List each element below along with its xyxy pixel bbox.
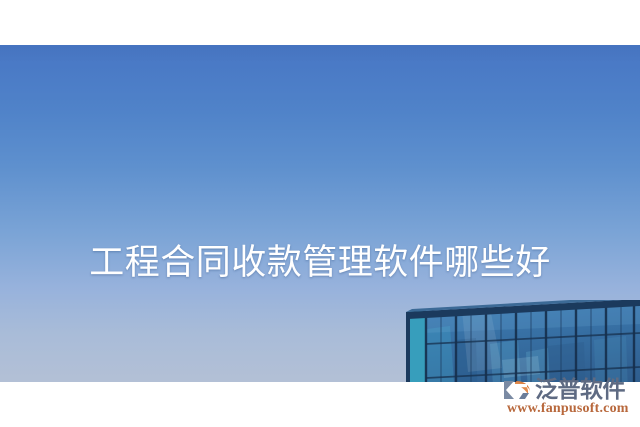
brand-logo-row: 泛普软件 xyxy=(503,378,625,402)
screenshot-canvas: 工程合同收款管理软件哪些好 泛普软件 xyxy=(0,0,640,427)
page-title: 工程合同收款管理软件哪些好 xyxy=(0,241,640,285)
hero-banner: 工程合同收款管理软件哪些好 xyxy=(0,45,640,382)
fanpu-f-mark-icon xyxy=(503,378,533,402)
brand-name: 泛普软件 xyxy=(535,378,625,402)
brand-logo[interactable]: 泛普软件 www.fanpusoft.com xyxy=(503,378,639,423)
sky-gradient-band xyxy=(0,45,640,63)
glass-office-building-illustration xyxy=(398,300,640,382)
brand-url[interactable]: www.fanpusoft.com xyxy=(507,401,629,417)
